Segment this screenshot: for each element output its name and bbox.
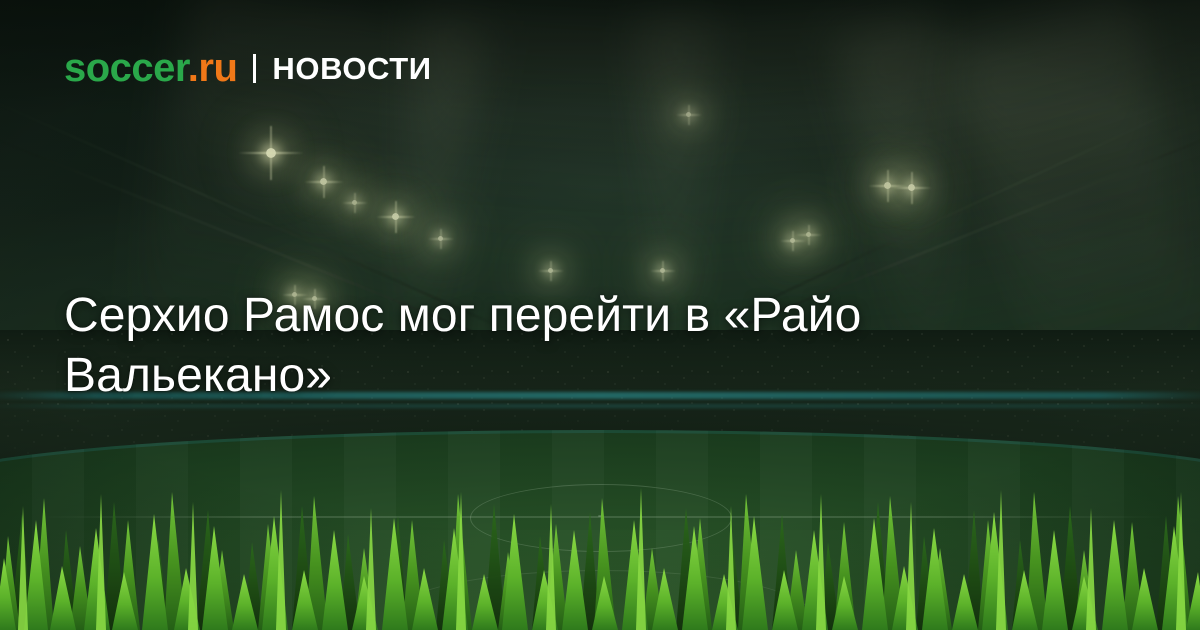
brand-divider: [253, 54, 256, 83]
brand-bar[interactable]: soccer.ru НОВОСТИ: [64, 48, 432, 88]
page-title: Серхио Рамос мог перейти в «Райо Вальека…: [64, 286, 1074, 406]
card-content: soccer.ru НОВОСТИ Серхио Рамос мог перей…: [0, 0, 1200, 630]
logo-tld: .ru: [188, 46, 238, 90]
news-share-card: soccer.ru НОВОСТИ Серхио Рамос мог перей…: [0, 0, 1200, 630]
soccer-ru-logo[interactable]: soccer.ru: [64, 48, 237, 88]
section-label: НОВОСТИ: [272, 53, 431, 84]
logo-name: soccer: [64, 46, 188, 90]
